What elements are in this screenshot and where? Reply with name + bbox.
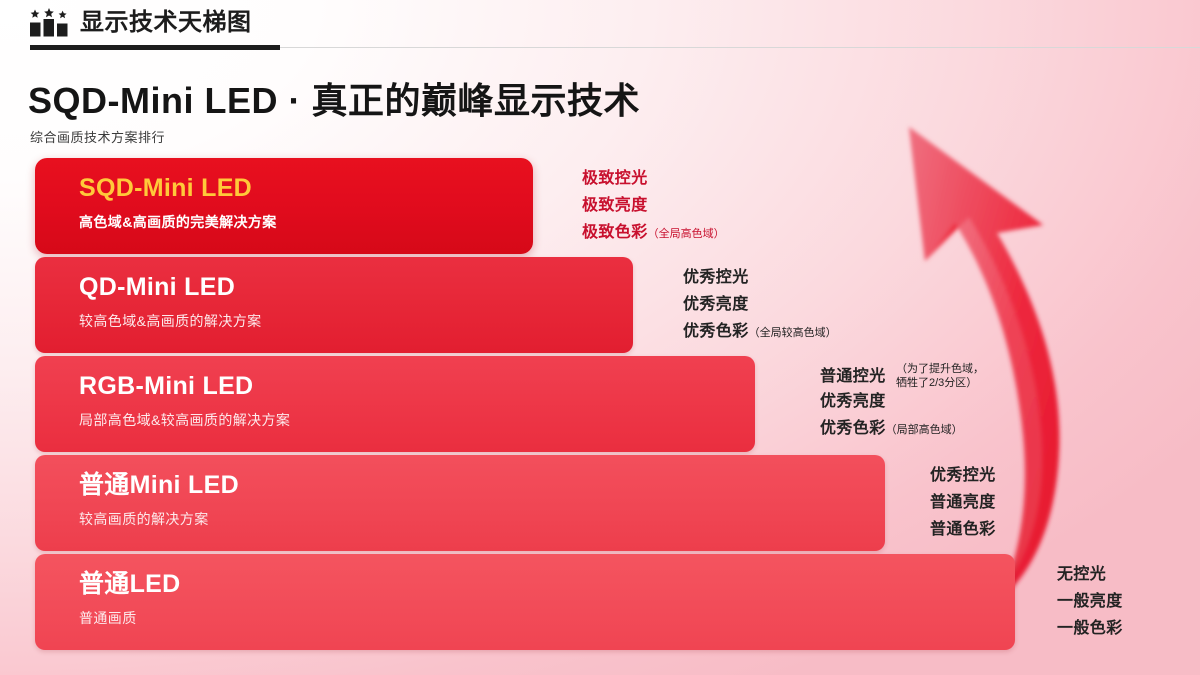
spec-list-2: 优秀控光 优秀亮度 优秀色彩（全局较高色域）: [683, 265, 837, 346]
header: 显示技术天梯图: [28, 8, 252, 38]
spec-main: 极致亮度: [582, 197, 648, 214]
spec-line: 极致控光: [582, 166, 725, 193]
ladder-row-2: QD-Mini LED 较高色域&高画质的解决方案 优秀控光 优秀亮度 优秀色彩…: [35, 257, 633, 353]
spec-list-5: 无控光 一般亮度 一般色彩: [1057, 562, 1123, 643]
header-title: 显示技术天梯图: [80, 11, 252, 35]
spec-main: 普通亮度: [930, 494, 996, 511]
bar-putong-led[interactable]: 普通LED 普通画质: [35, 554, 1015, 650]
spec-line: 普通色彩: [930, 517, 996, 544]
spec-line: 极致色彩（全局高色域）: [582, 220, 725, 247]
spec-main: 优秀控光: [930, 467, 996, 484]
bar-rgb-mini-led[interactable]: RGB-Mini LED 局部高色域&较高画质的解决方案: [35, 356, 755, 452]
spec-line: 一般色彩: [1057, 616, 1123, 643]
bar-description: 较高色域&高画质的解决方案: [79, 311, 633, 331]
spec-main: 优秀色彩: [683, 323, 749, 340]
page-subtitle: 综合画质技术方案排行: [30, 127, 165, 146]
spec-note: （全局较高色域）: [749, 327, 837, 339]
spec-main: 一般亮度: [1057, 593, 1123, 610]
spec-line: 优秀亮度: [683, 292, 837, 319]
bar-description: 普通画质: [79, 608, 1015, 628]
bar-qd-mini-led[interactable]: QD-Mini LED 较高色域&高画质的解决方案: [35, 257, 633, 353]
spec-line: 优秀控光: [930, 463, 996, 490]
spec-note: （全局高色域）: [648, 228, 725, 240]
header-divider-bold: [30, 45, 280, 50]
spec-main: 一般色彩: [1057, 620, 1123, 637]
bar-description: 局部高色域&较高画质的解决方案: [79, 410, 755, 430]
spec-line: 无控光: [1057, 562, 1123, 589]
bar-putong-mini-led[interactable]: 普通Mini LED 较高画质的解决方案: [35, 455, 885, 551]
bar-description: 较高画质的解决方案: [79, 509, 885, 529]
spec-main: 优秀控光: [683, 269, 749, 286]
ladder-row-1: SQD-Mini LED 高色域&高画质的完美解决方案 极致控光 极致亮度 极致…: [35, 158, 533, 254]
spec-main: 普通控光: [820, 368, 886, 385]
spec-line: 优秀亮度: [820, 389, 963, 416]
spec-note: （局部高色域）: [886, 424, 963, 436]
spec-list-3: 普通控光（为了提升色域， 牺牲了2/3分区） 优秀亮度 优秀色彩（局部高色域）: [820, 364, 963, 443]
page-title: SQD-Mini LED · 真正的巅峰显示技术: [28, 72, 640, 124]
spec-main: 普通色彩: [930, 521, 996, 538]
spec-line: 一般亮度: [1057, 589, 1123, 616]
spec-line: 普通控光（为了提升色域， 牺牲了2/3分区）: [820, 364, 963, 389]
spec-main: 极致控光: [582, 170, 648, 187]
bar-title: RGB-Mini LED: [79, 373, 755, 401]
spec-list-4: 优秀控光 普通亮度 普通色彩: [930, 463, 996, 544]
ladder-row-3: RGB-Mini LED 局部高色域&较高画质的解决方案 普通控光（为了提升色域…: [35, 356, 755, 452]
bar-title: 普通LED: [79, 571, 1015, 599]
spec-main: 优秀色彩: [820, 420, 886, 437]
ladder-row-4: 普通Mini LED 较高画质的解决方案 优秀控光 普通亮度 普通色彩: [35, 455, 885, 551]
spec-main: 优秀亮度: [683, 296, 749, 313]
spec-main: 优秀亮度: [820, 393, 886, 410]
spec-line: 极致亮度: [582, 193, 725, 220]
header-divider-thin: [280, 47, 1200, 48]
rank-bars-stars-icon: [28, 8, 70, 38]
spec-line: 优秀色彩（全局较高色域）: [683, 319, 837, 346]
spec-main: 无控光: [1057, 566, 1106, 583]
spec-line: 优秀控光: [683, 265, 837, 292]
spec-list-1: 极致控光 极致亮度 极致色彩（全局高色域）: [582, 166, 725, 247]
bar-sqd-mini-led[interactable]: SQD-Mini LED 高色域&高画质的完美解决方案: [35, 158, 533, 254]
spec-note-multiline: （为了提升色域， 牺牲了2/3分区）: [896, 362, 984, 390]
infographic-page: 显示技术天梯图 SQD-Mini LED · 真正的巅峰显示技术 综合画质技术方…: [0, 0, 1200, 675]
bar-description: 高色域&高画质的完美解决方案: [79, 212, 533, 232]
bar-title: 普通Mini LED: [79, 472, 885, 500]
spec-line: 优秀色彩（局部高色域）: [820, 416, 963, 443]
bar-title: QD-Mini LED: [79, 274, 633, 302]
spec-line: 普通亮度: [930, 490, 996, 517]
bar-title: SQD-Mini LED: [79, 175, 533, 203]
ladder-row-5: 普通LED 普通画质 无控光 一般亮度 一般色彩: [35, 554, 1015, 650]
spec-main: 极致色彩: [582, 224, 648, 241]
